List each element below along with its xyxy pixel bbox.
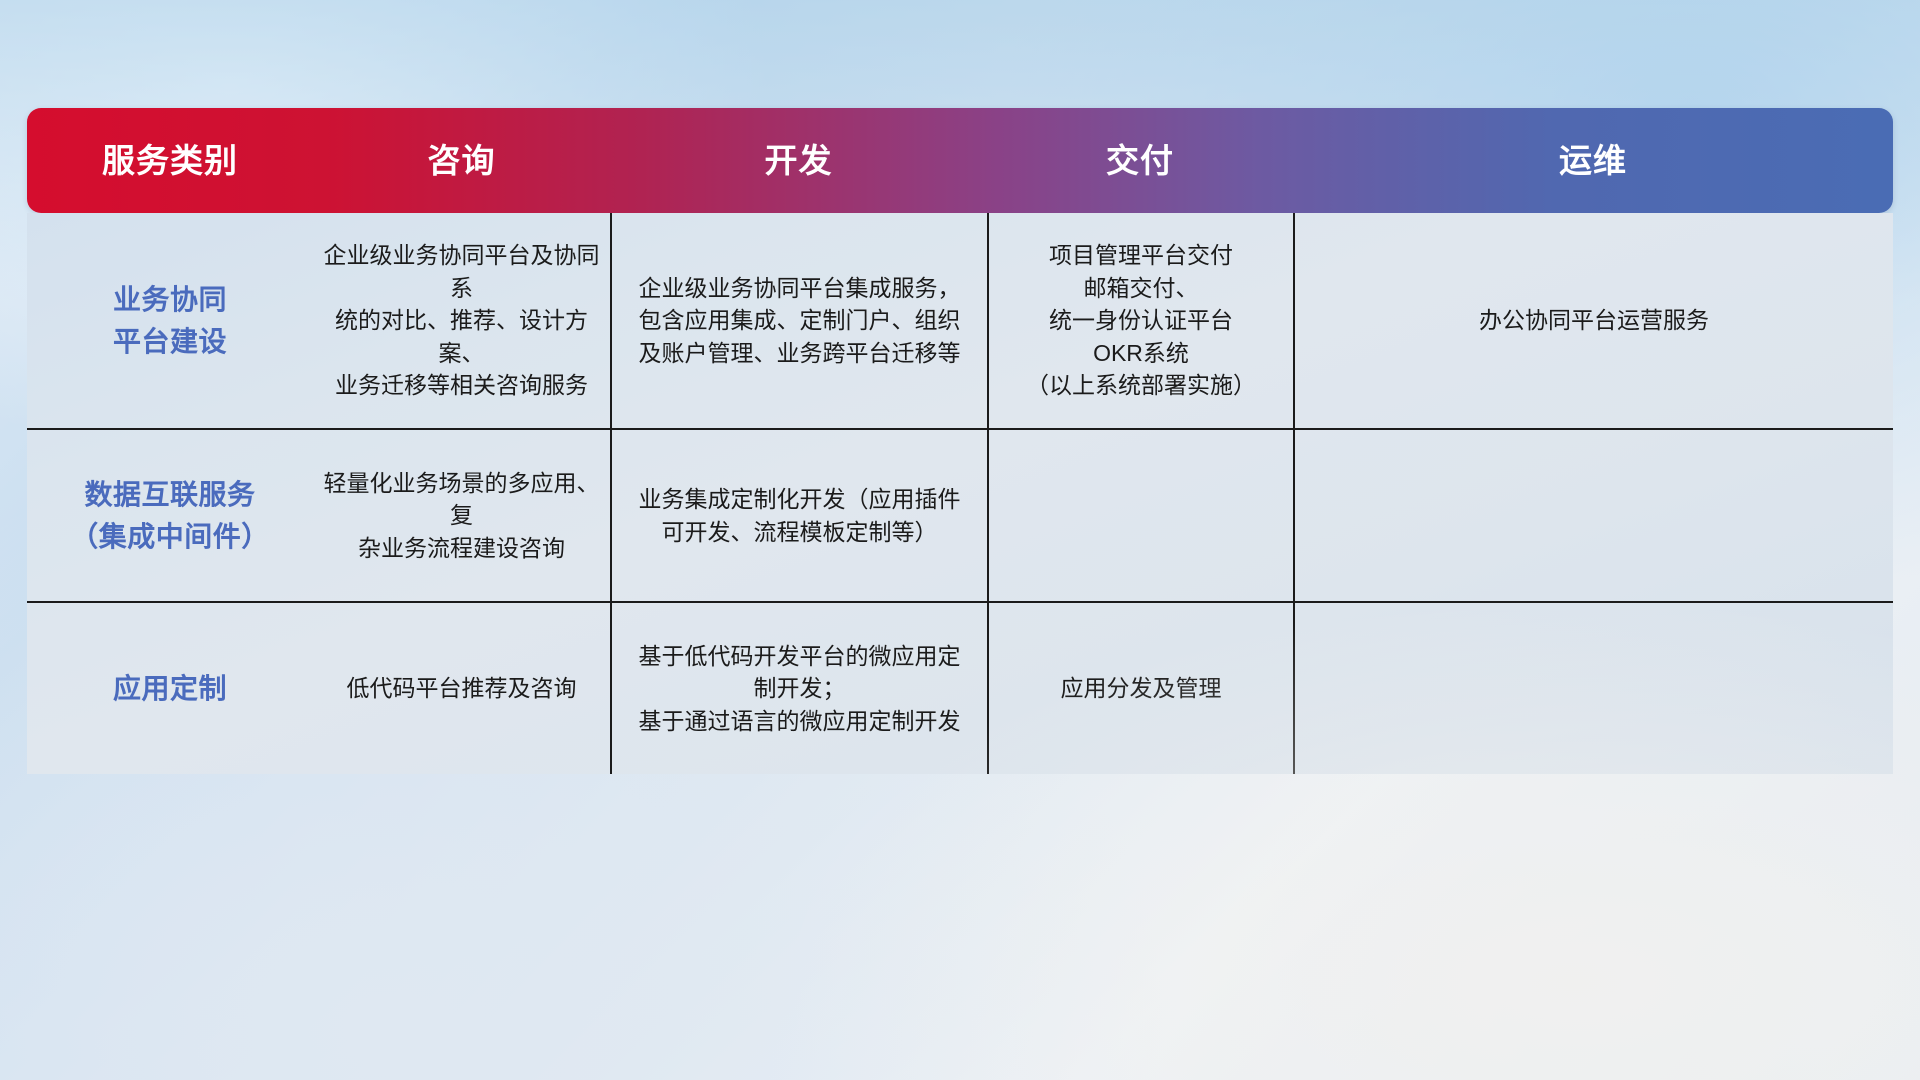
cell-development: 基于低代码开发平台的微应用定 制开发； 基于通过语言的微应用定制开发 [610, 603, 987, 774]
cell-text: 办公协同平台运营服务 [1479, 304, 1709, 337]
cell-delivery [987, 430, 1293, 601]
category-label: 数据互联服务 （集成中间件） [70, 474, 270, 558]
table-row: 数据互联服务 （集成中间件） 轻量化业务场景的多应用、复 杂业务流程建设咨询 业… [27, 428, 1893, 601]
cell-text: 低代码平台推荐及咨询 [347, 672, 577, 705]
row-category-cell: 数据互联服务 （集成中间件） [27, 430, 313, 601]
cell-operations [1293, 603, 1893, 774]
category-label: 应用定制 [113, 668, 227, 710]
header-cell-operations: 运维 [1293, 144, 1893, 177]
table-row: 业务协同 平台建设 企业级业务协同平台及协同系 统的对比、推荐、设计方案、 业务… [27, 213, 1893, 428]
cell-delivery: 应用分发及管理 [987, 603, 1293, 774]
cell-consulting: 轻量化业务场景的多应用、复 杂业务流程建设咨询 [313, 430, 610, 601]
cell-text: 项目管理平台交付 邮箱交付、 统一身份认证平台 OKR系统 （以上系统部署实施） [1026, 239, 1256, 402]
slide-background: 服务类别 咨询 开发 交付 运维 业务协同 平台建设 企业级业务协同平台及协同系… [0, 0, 1920, 1080]
row-category-cell: 应用定制 [27, 603, 313, 774]
row-category-cell: 业务协同 平台建设 [27, 213, 313, 428]
cell-text: 轻量化业务场景的多应用、复 杂业务流程建设咨询 [323, 467, 600, 565]
cell-text: 基于低代码开发平台的微应用定 制开发； 基于通过语言的微应用定制开发 [639, 640, 961, 738]
cell-operations: 办公协同平台运营服务 [1293, 213, 1893, 428]
table-row: 应用定制 低代码平台推荐及咨询 基于低代码开发平台的微应用定 制开发； 基于通过… [27, 601, 1893, 774]
table-body: 业务协同 平台建设 企业级业务协同平台及协同系 统的对比、推荐、设计方案、 业务… [27, 213, 1893, 774]
cell-consulting: 低代码平台推荐及咨询 [313, 603, 610, 774]
header-cell-delivery: 交付 [987, 144, 1293, 177]
cell-operations [1293, 430, 1893, 601]
cell-text: 企业级业务协同平台集成服务， 包含应用集成、定制门户、组织 及账户管理、业务跨平… [639, 272, 961, 370]
category-label: 业务协同 平台建设 [113, 279, 227, 363]
header-cell-consulting: 咨询 [313, 144, 610, 177]
service-matrix-table: 服务类别 咨询 开发 交付 运维 业务协同 平台建设 企业级业务协同平台及协同系… [27, 108, 1893, 774]
cell-consulting: 企业级业务协同平台及协同系 统的对比、推荐、设计方案、 业务迁移等相关咨询服务 [313, 213, 610, 428]
cell-text: 企业级业务协同平台及协同系 统的对比、推荐、设计方案、 业务迁移等相关咨询服务 [323, 239, 600, 402]
cell-delivery: 项目管理平台交付 邮箱交付、 统一身份认证平台 OKR系统 （以上系统部署实施） [987, 213, 1293, 428]
cell-text: 业务集成定制化开发（应用插件 可开发、流程模板定制等） [639, 483, 961, 548]
cell-development: 企业级业务协同平台集成服务， 包含应用集成、定制门户、组织 及账户管理、业务跨平… [610, 213, 987, 428]
cell-text: 应用分发及管理 [1061, 672, 1222, 705]
header-cell-development: 开发 [610, 144, 987, 177]
cell-development: 业务集成定制化开发（应用插件 可开发、流程模板定制等） [610, 430, 987, 601]
header-cell-service-category: 服务类别 [27, 144, 313, 177]
table-header-row: 服务类别 咨询 开发 交付 运维 [27, 108, 1893, 213]
